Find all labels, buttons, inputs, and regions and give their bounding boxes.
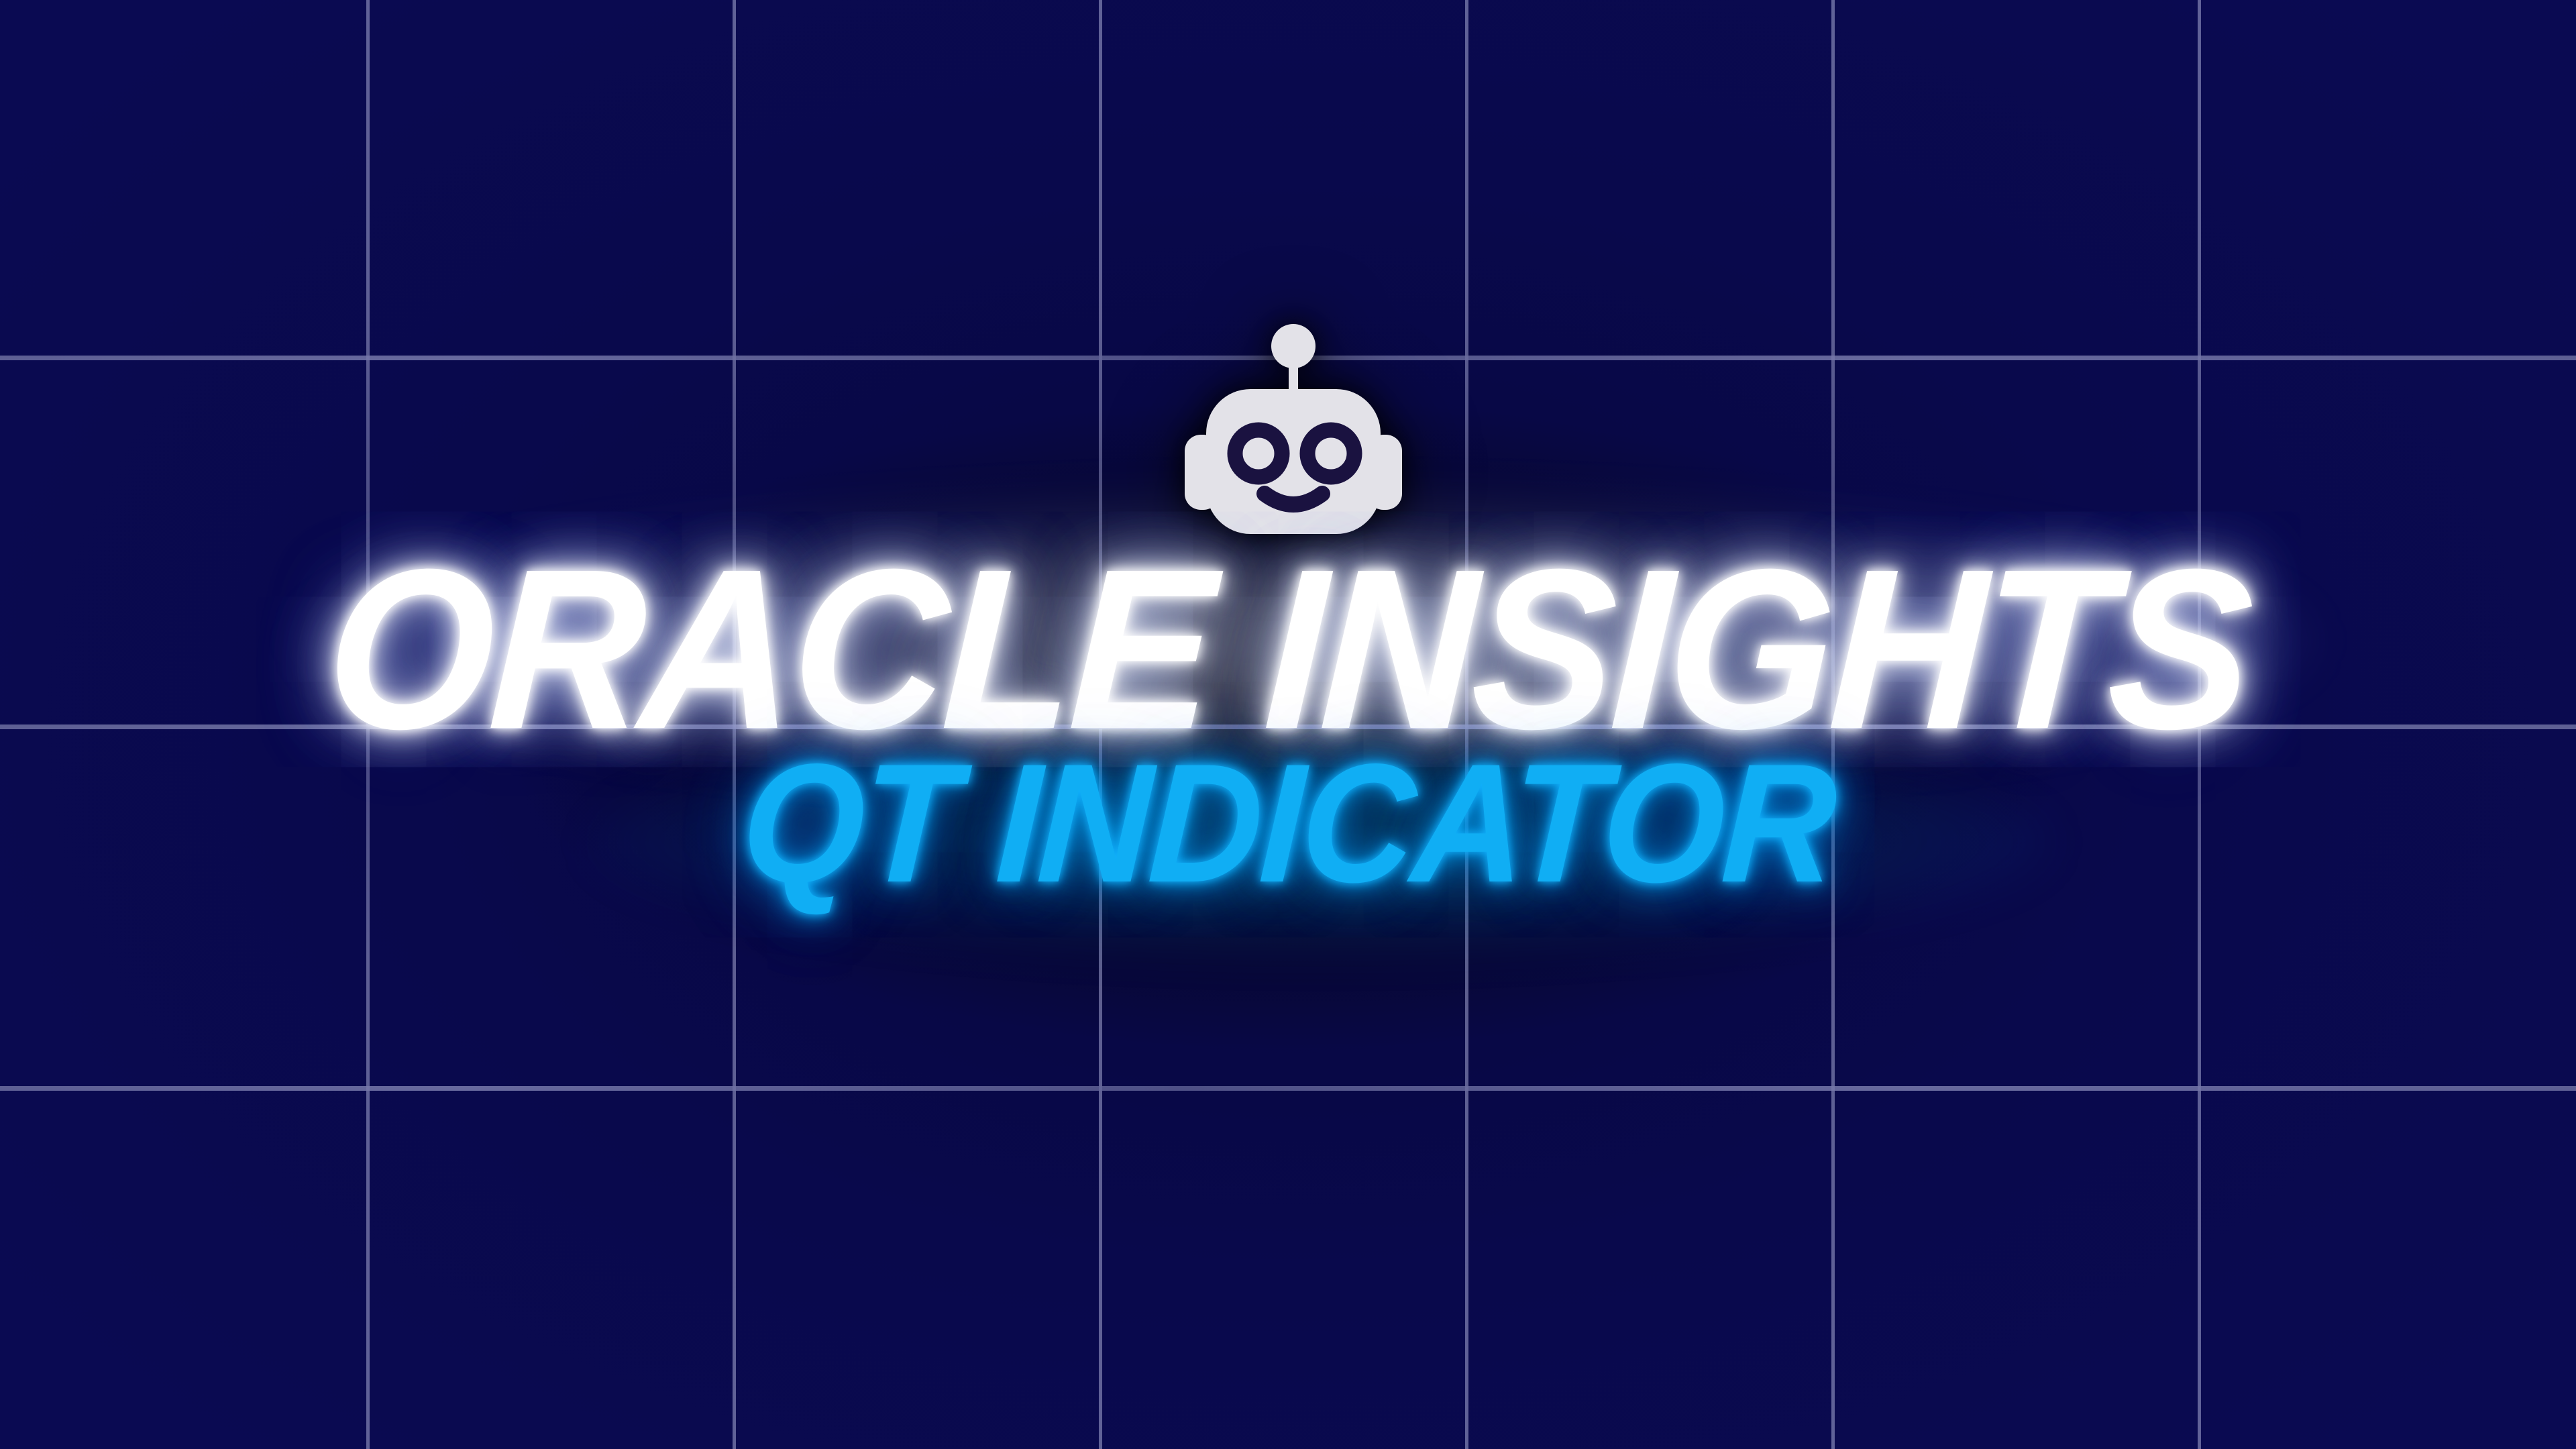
page-subtitle: QT INDICATOR	[86, 739, 2489, 908]
robot-face-icon	[1179, 314, 1407, 542]
grid-line-horizontal	[0, 1086, 2576, 1091]
title-card-canvas: ORACLE INSIGHTS QT INDICATOR	[0, 0, 2576, 1449]
hero-text-block: ORACLE INSIGHTS QT INDICATOR	[0, 535, 2576, 908]
robot-mascot	[1179, 314, 1407, 542]
